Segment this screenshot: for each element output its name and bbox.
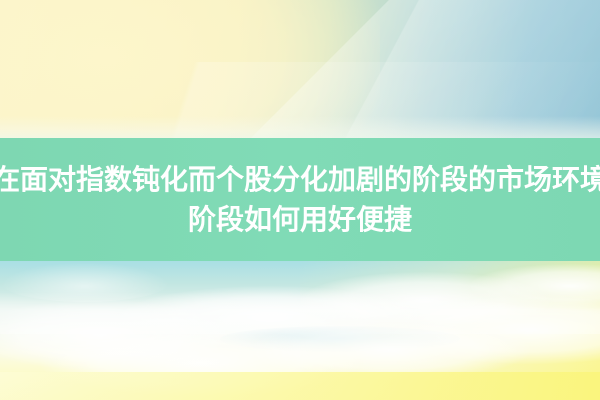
banner-image: 在面对指数钝化而个股分化加剧的阶段的市场环境 阶段如何用好便捷 xyxy=(0,0,600,400)
title-band: 在面对指数钝化而个股分化加剧的阶段的市场环境 阶段如何用好便捷 xyxy=(0,138,600,261)
title-line-1: 在面对指数钝化而个股分化加剧的阶段的市场环境 xyxy=(0,166,600,194)
bottom-yellow-glow xyxy=(0,372,600,400)
top-seam-fade xyxy=(0,116,600,140)
title-line-2: 阶段如何用好便捷 xyxy=(188,206,412,234)
blue-cloud-wisp xyxy=(220,326,460,352)
